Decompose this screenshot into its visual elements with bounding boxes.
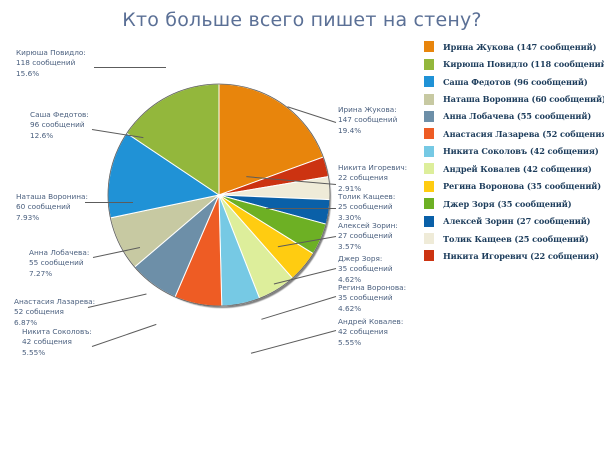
callout-count: 96 сообщений: [30, 120, 89, 130]
callout-percent: 3.57%: [338, 242, 398, 252]
leader-line-kiryusha: [94, 67, 166, 68]
callout-nikita-sokolov: Никита Соколовъ: 42 собщения 5.55%: [22, 327, 92, 358]
pie-chart: [108, 82, 336, 314]
callout-name: Толик Кащеев:: [338, 192, 395, 202]
legend-item[interactable]: Анна Лобачева (55 сообщений): [424, 108, 604, 125]
legend: Ирина Жукова (147 сообщений)Кирюша Повид…: [424, 38, 604, 265]
legend-item-label: Кирюша Повидло (118 сообщений): [443, 59, 604, 69]
legend-item-label: Толик Кащеев (25 сообщений): [443, 234, 589, 244]
legend-item[interactable]: Андрей Ковалев (42 собщения): [424, 160, 604, 177]
legend-item-label: Никита Соколовъ (42 собщения): [443, 146, 599, 156]
callout-name: Анастасия Лазарева:: [14, 297, 95, 307]
callout-tolik: Толик Кащеев: 25 сообщений 3.30%: [338, 192, 395, 223]
callout-percent: 15.6%: [16, 69, 86, 79]
legend-color-swatch: [424, 94, 434, 105]
callout-count: 60 сообщений: [16, 202, 88, 212]
callout-nikita-igorevich: Никита Игоревич: 22 собщения 2.91%: [338, 163, 407, 194]
callout-name: Наташа Воронина:: [16, 192, 88, 202]
callout-name: Кирюша Повидло:: [16, 48, 86, 58]
legend-item[interactable]: Никита Соколовъ (42 собщения): [424, 143, 604, 160]
callout-count: 35 сообщений: [338, 264, 393, 274]
legend-item[interactable]: Ирина Жукова (147 сообщений): [424, 38, 604, 55]
callout-name: Никита Соколовъ:: [22, 327, 92, 337]
callout-percent: 7.93%: [16, 213, 88, 223]
callout-natasha: Наташа Воронина: 60 сообщений 7.93%: [16, 192, 88, 223]
legend-color-swatch: [424, 128, 434, 139]
legend-item-label: Андрей Ковалев (42 собщения): [443, 164, 592, 174]
callout-sasha: Саша Федотов: 96 сообщений 12.6%: [30, 110, 89, 141]
legend-color-swatch: [424, 163, 434, 174]
legend-color-swatch: [424, 250, 434, 261]
callout-regina: Регина Воронова: 35 сообщений 4.62%: [338, 283, 406, 314]
legend-item[interactable]: Толик Кащеев (25 сообщений): [424, 230, 604, 247]
legend-item-label: Саша Федотов (96 сообщений): [443, 77, 588, 87]
legend-item-label: Алексей Зорин (27 сообщений): [443, 216, 590, 226]
callout-name: Алексей Зорин:: [338, 221, 398, 231]
callout-dzher: Джер Зоря: 35 сообщений 4.62%: [338, 254, 393, 285]
leader-line-andrey: [251, 330, 336, 354]
legend-item-label: Анастасия Лазарева (52 собщения): [443, 129, 604, 139]
callout-count: 52 собщения: [14, 307, 95, 317]
callout-count: 25 сообщений: [338, 202, 395, 212]
callout-anastasia: Анастасия Лазарева: 52 собщения 6.87%: [14, 297, 95, 328]
callout-andrey: Андрей Ковалев: 42 собщения 5.55%: [338, 317, 403, 348]
legend-item[interactable]: Регина Воронова (35 сообщений): [424, 178, 604, 195]
legend-item-label: Анна Лобачева (55 сообщений): [443, 111, 591, 121]
legend-color-swatch: [424, 146, 434, 157]
callout-percent: 5.55%: [22, 348, 92, 358]
pie-slices: [108, 82, 332, 308]
callout-count: 22 собщения: [338, 173, 407, 183]
leader-line-nikita-s: [92, 324, 157, 347]
legend-color-swatch: [424, 41, 434, 52]
legend-item[interactable]: Саша Федотов (96 сообщений): [424, 73, 604, 90]
legend-item-label: Никита Игоревич (22 собщения): [443, 251, 599, 261]
legend-item[interactable]: Наташа Воронина (60 сообщений): [424, 90, 604, 107]
callout-name: Андрей Ковалев:: [338, 317, 403, 327]
callout-percent: 5.55%: [338, 338, 403, 348]
callout-count: 118 сообщений: [16, 58, 86, 68]
legend-color-swatch: [424, 181, 434, 192]
callout-count: 55 сообщений: [29, 258, 89, 268]
callout-name: Никита Игоревич:: [338, 163, 407, 173]
callout-count: 27 сообщений: [338, 231, 398, 241]
callout-name: Регина Воронова:: [338, 283, 406, 293]
legend-item-label: Ирина Жукова (147 сообщений): [443, 42, 596, 52]
legend-color-swatch: [424, 198, 434, 209]
callout-anna: Анна Лобачева: 55 сообщений 7.27%: [29, 248, 89, 279]
legend-item-label: Регина Воронова (35 сообщений): [443, 181, 601, 191]
callout-name: Анна Лобачева:: [29, 248, 89, 258]
legend-item[interactable]: Кирюша Повидло (118 сообщений): [424, 55, 604, 72]
callout-name: Ирина Жукова:: [338, 105, 397, 115]
callout-count: 35 сообщений: [338, 293, 406, 303]
callout-irina: Ирина Жукова: 147 сообщений 19.4%: [338, 105, 397, 136]
callout-alexey: Алексей Зорин: 27 сообщений 3.57%: [338, 221, 398, 252]
leader-line-tolik: [266, 208, 336, 209]
callout-percent: 7.27%: [29, 269, 89, 279]
page-title: Кто больше всего пишет на стену?: [0, 9, 604, 31]
callout-count: 147 сообщений: [338, 115, 397, 125]
callout-name: Саша Федотов:: [30, 110, 89, 120]
leader-line-natasha: [85, 202, 133, 203]
legend-color-swatch: [424, 59, 434, 70]
callout-name: Джер Зоря:: [338, 254, 393, 264]
legend-color-swatch: [424, 111, 434, 122]
legend-color-swatch: [424, 76, 434, 87]
callout-percent: 12.6%: [30, 131, 89, 141]
legend-item-label: Джер Зоря (35 сообщений): [443, 199, 572, 209]
callout-percent: 4.62%: [338, 304, 406, 314]
legend-item[interactable]: Никита Игоревич (22 собщения): [424, 247, 604, 264]
legend-item-label: Наташа Воронина (60 сообщений): [443, 94, 604, 104]
legend-color-swatch: [424, 216, 434, 227]
legend-item[interactable]: Алексей Зорин (27 сообщений): [424, 212, 604, 229]
chart-canvas: Кто больше всего пишет на стену? Кирюша …: [0, 0, 604, 452]
callout-percent: 19.4%: [338, 126, 397, 136]
legend-item[interactable]: Джер Зоря (35 сообщений): [424, 195, 604, 212]
callout-count: 42 собщения: [22, 337, 92, 347]
callout-count: 42 собщения: [338, 327, 403, 337]
legend-color-swatch: [424, 233, 434, 244]
legend-item[interactable]: Анастасия Лазарева (52 собщения): [424, 125, 604, 142]
callout-kiryusha: Кирюша Повидло: 118 сообщений 15.6%: [16, 48, 86, 79]
